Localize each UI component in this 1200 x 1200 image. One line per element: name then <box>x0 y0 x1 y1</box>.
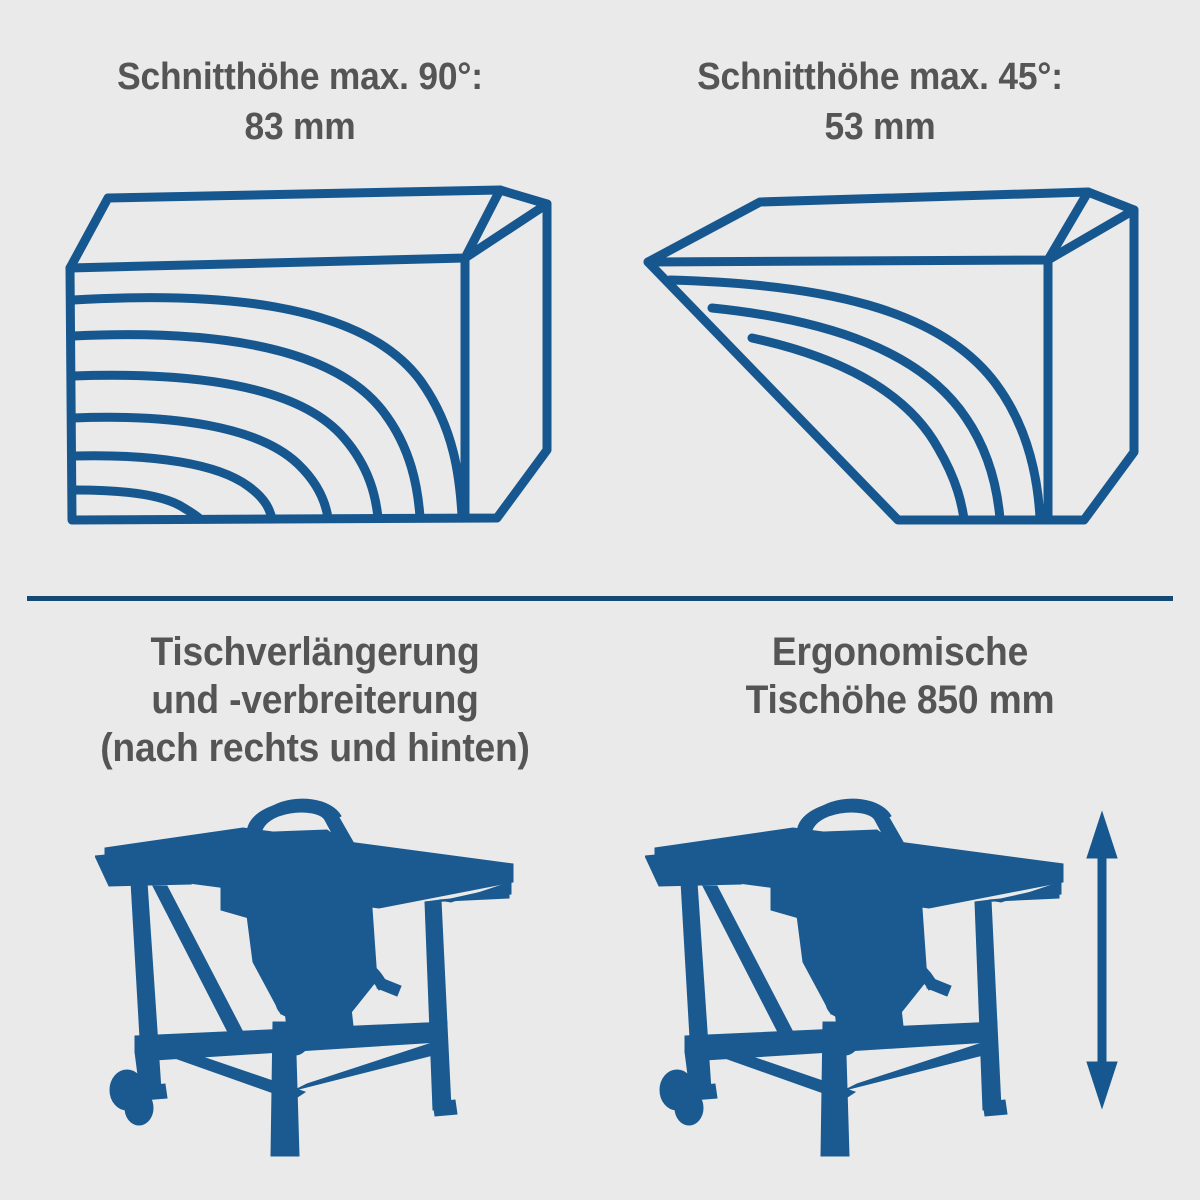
caption-line: Schnitthöhe max. 45°: <box>638 52 1122 102</box>
infographic-page: Schnitthöhe max. 90°: 83 mm Schnitthöhe … <box>0 0 1200 1200</box>
section-divider <box>27 596 1173 601</box>
table-height-double-arrow-icon <box>1075 810 1129 1110</box>
caption-line: 53 mm <box>638 102 1122 152</box>
caption-table-height: Ergonomische Tischöhe 850 mm <box>658 628 1142 724</box>
caption-line: und -verbreiterung <box>50 676 580 724</box>
caption-line: 83 mm <box>58 102 542 152</box>
table-saw-silhouette-right-icon <box>645 790 1065 1160</box>
caption-line: (nach rechts und hinten) <box>50 724 580 772</box>
caption-line: Ergonomische <box>658 628 1142 676</box>
caption-cut-height-90: Schnitthöhe max. 90°: 83 mm <box>58 52 542 152</box>
caption-line: Schnitthöhe max. 90°: <box>58 52 542 102</box>
table-saw-silhouette-left-icon <box>95 790 515 1160</box>
wood-block-bevel-cut-icon <box>640 180 1160 550</box>
caption-table-extension: Tischverlängerung und -verbreiterung (na… <box>50 628 580 772</box>
caption-cut-height-45: Schnitthöhe max. 45°: 53 mm <box>638 52 1122 152</box>
wood-block-square-cut-icon <box>60 180 580 550</box>
caption-line: Tischöhe 850 mm <box>658 676 1142 724</box>
caption-line: Tischverlängerung <box>50 628 580 676</box>
